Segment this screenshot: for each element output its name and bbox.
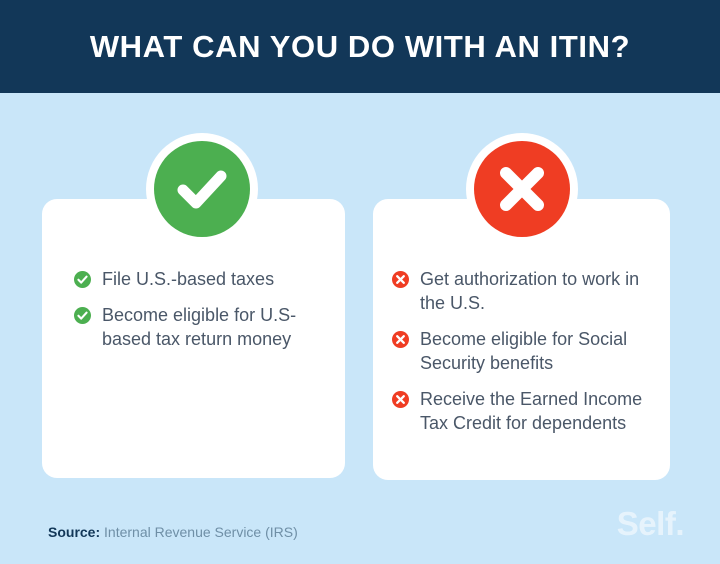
list-item-label: Receive the Earned Income Tax Credit for… bbox=[420, 387, 650, 435]
cross-circle-icon bbox=[474, 141, 570, 237]
list-item-label: File U.S.-based taxes bbox=[102, 267, 274, 291]
list-item: Become eligible for Social Security bene… bbox=[392, 327, 650, 375]
cross-circle-bullet-icon bbox=[392, 391, 409, 408]
list-item: Receive the Earned Income Tax Credit for… bbox=[392, 387, 650, 435]
cross-circle-bullet-icon bbox=[392, 271, 409, 288]
list-item-label: Become eligible for U.S-based tax return… bbox=[102, 303, 324, 351]
allowed-list: File U.S.-based taxes Become eligible fo… bbox=[74, 267, 324, 351]
footer: Source: Internal Revenue Service (IRS) S… bbox=[0, 493, 720, 564]
source-label: Source: bbox=[48, 524, 100, 540]
page-title: WHAT CAN YOU DO WITH AN ITIN? bbox=[90, 31, 630, 62]
check-badge-ring bbox=[146, 133, 258, 245]
cards-area: File U.S.-based taxes Become eligible fo… bbox=[0, 93, 720, 493]
not-allowed-list: Get authorization to work in the U.S. Be… bbox=[392, 267, 650, 435]
source-value: Internal Revenue Service (IRS) bbox=[104, 524, 298, 540]
infographic-root: WHAT CAN YOU DO WITH AN ITIN? File U.S bbox=[0, 0, 720, 564]
check-circle-bullet-icon bbox=[74, 307, 91, 324]
check-circle-icon bbox=[154, 141, 250, 237]
source-line: Source: Internal Revenue Service (IRS) bbox=[48, 523, 298, 541]
cross-circle-bullet-icon bbox=[392, 331, 409, 348]
cross-badge-ring bbox=[466, 133, 578, 245]
list-item-label: Become eligible for Social Security bene… bbox=[420, 327, 650, 375]
list-item-label: Get authorization to work in the U.S. bbox=[420, 267, 650, 315]
list-item: File U.S.-based taxes bbox=[74, 267, 324, 291]
header-bar: WHAT CAN YOU DO WITH AN ITIN? bbox=[0, 0, 720, 93]
list-item: Become eligible for U.S-based tax return… bbox=[74, 303, 324, 351]
check-circle-bullet-icon bbox=[74, 271, 91, 288]
brand-logo: Self. bbox=[617, 507, 684, 540]
list-item: Get authorization to work in the U.S. bbox=[392, 267, 650, 315]
